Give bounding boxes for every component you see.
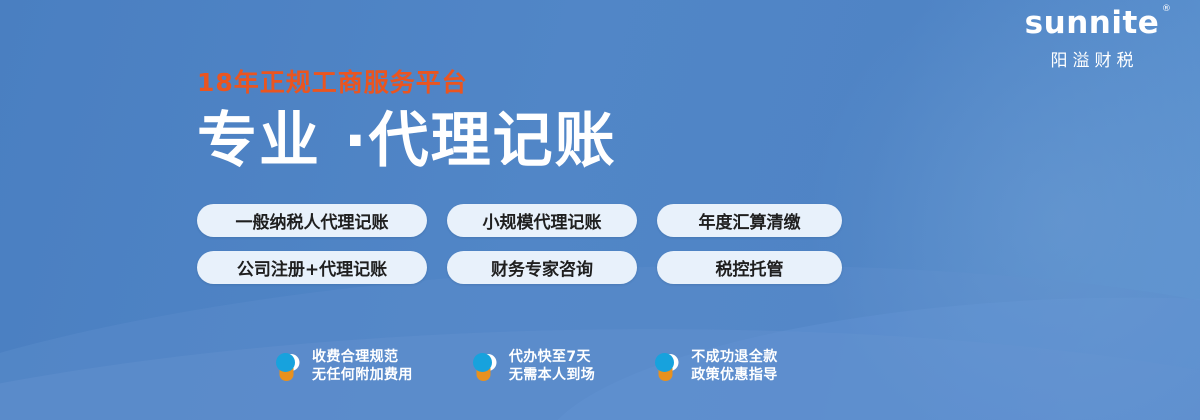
benefit-line-1: 不成功退全款 (691, 350, 777, 364)
benefit-line-1: 收费合理规范 (312, 350, 413, 364)
benefit-text: 不成功退全款 政策优惠指导 (691, 350, 777, 382)
brand-logo[interactable]: sunnite ® 阳溢财税 (1008, 8, 1176, 71)
service-pill-general-taxpayer[interactable]: 一般纳税人代理记账 (197, 204, 427, 237)
service-pill-small-scale[interactable]: 小规模代理记账 (447, 204, 637, 237)
benefit-item: 不成功退全款 政策优惠指导 (651, 350, 777, 382)
benefit-line-2: 无任何附加费用 (312, 368, 413, 382)
registered-trademark-icon: ® (1162, 5, 1172, 14)
service-pill-finance-consulting[interactable]: 财务专家咨询 (447, 251, 637, 284)
headline-block: 18年正规工商服务平台 专业 ·代理记账 (197, 70, 617, 174)
benefit-line-2: 政策优惠指导 (691, 368, 777, 382)
pill-row: 公司注册+代理记账 财务专家咨询 税控托管 (197, 251, 842, 284)
background-wave-right (534, 274, 1200, 420)
logo-wordmark-text: sunnite (1025, 5, 1160, 41)
service-pill-tax-control-hosting[interactable]: 税控托管 (657, 251, 842, 284)
benefit-strip: 收费合理规范 无任何附加费用 代办快至7天 无需本人到场 (272, 350, 778, 382)
benefit-line-2: 无需本人到场 (509, 368, 595, 382)
promo-banner: sunnite ® 阳溢财税 18年正规工商服务平台 专业 ·代理记账 一般纳税… (0, 0, 1200, 420)
pill-row: 一般纳税人代理记账 小规模代理记账 年度汇算清缴 (197, 204, 842, 237)
benefit-line-1: 代办快至7天 (509, 350, 595, 364)
service-pill-annual-settlement[interactable]: 年度汇算清缴 (657, 204, 842, 237)
service-pill-company-registration[interactable]: 公司注册+代理记账 (197, 251, 427, 284)
eyebrow-text: 18年正规工商服务平台 (197, 70, 617, 95)
service-pill-group: 一般纳税人代理记账 小规模代理记账 年度汇算清缴 公司注册+代理记账 财务专家咨… (197, 204, 842, 284)
logo-chinese-name: 阳溢财税 (1008, 46, 1176, 71)
logo-wordmark: sunnite ® (1025, 8, 1160, 39)
benefit-text: 代办快至7天 无需本人到场 (509, 350, 595, 382)
check-badge-icon (651, 350, 681, 382)
benefit-item: 代办快至7天 无需本人到场 (469, 350, 595, 382)
page-title: 专业 ·代理记账 (197, 109, 617, 174)
check-badge-icon (469, 350, 499, 382)
benefit-item: 收费合理规范 无任何附加费用 (272, 350, 413, 382)
check-badge-icon (272, 350, 302, 382)
benefit-text: 收费合理规范 无任何附加费用 (312, 350, 413, 382)
